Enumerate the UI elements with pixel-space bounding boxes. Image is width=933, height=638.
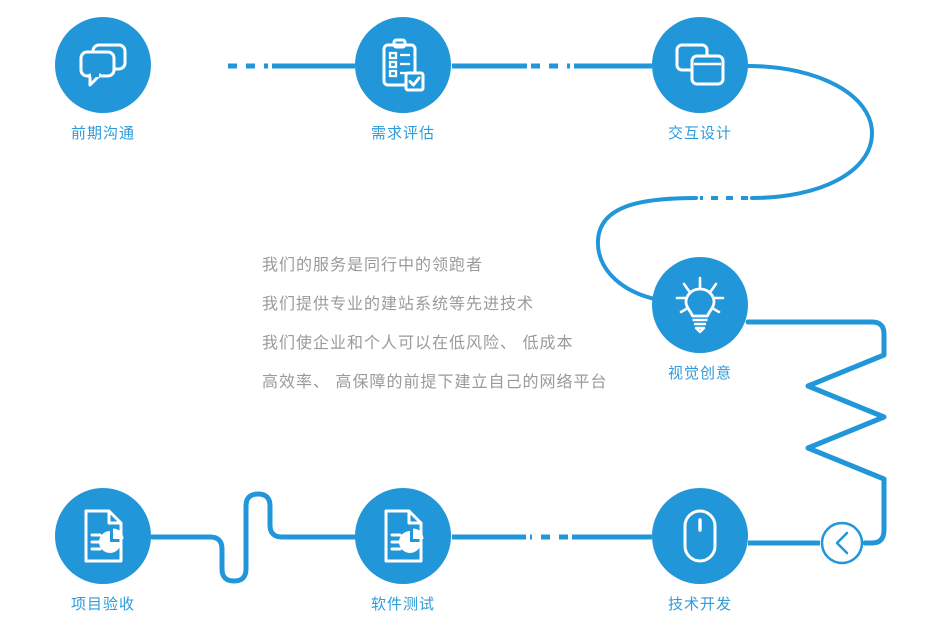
- caption-line: 我们提供专业的建站系统等先进技术: [262, 285, 632, 324]
- node-label: 视觉创意: [652, 366, 748, 381]
- node-visual-creative[interactable]: 视觉创意: [652, 257, 748, 381]
- node-project-acceptance[interactable]: 项目验收: [55, 488, 151, 612]
- node-label: 技术开发: [652, 597, 748, 612]
- node-circle[interactable]: [652, 488, 748, 584]
- lightbulb-icon: [672, 276, 728, 334]
- node-technical-development[interactable]: 技术开发: [652, 488, 748, 612]
- chevron-left-circle-icon: [822, 523, 862, 563]
- windows-stack-icon: [673, 42, 727, 88]
- caption-block: 我们的服务是同行中的领跑者 我们提供专业的建站系统等先进技术 我们使企业和个人可…: [262, 246, 632, 402]
- caption-line: 高效率、 高保障的前提下建立自己的网络平台: [262, 363, 632, 402]
- connector-testing-to-acceptance: [152, 494, 355, 581]
- node-label: 前期沟通: [55, 126, 151, 141]
- node-circle[interactable]: [355, 17, 451, 113]
- process-flow-diagram: 前期沟通 需求评估: [0, 0, 933, 638]
- node-requirement-assessment[interactable]: 需求评估: [355, 17, 451, 141]
- node-circle[interactable]: [652, 17, 748, 113]
- caption-line: 我们使企业和个人可以在低风险、 低成本: [262, 324, 632, 363]
- chat-bubbles-icon: [76, 41, 130, 89]
- node-circle[interactable]: [55, 488, 151, 584]
- document-pie-chart-icon: [79, 508, 127, 564]
- document-pie-chart-icon: [379, 508, 427, 564]
- node-pre-communication[interactable]: 前期沟通: [55, 17, 151, 141]
- node-circle[interactable]: [55, 17, 151, 113]
- node-label: 交互设计: [652, 126, 748, 141]
- caption-line: 我们的服务是同行中的领跑者: [262, 246, 632, 285]
- node-circle[interactable]: [652, 257, 748, 353]
- node-software-testing[interactable]: 软件测试: [355, 488, 451, 612]
- node-label: 软件测试: [355, 597, 451, 612]
- clipboard-checklist-icon: [380, 38, 426, 92]
- node-interaction-design[interactable]: 交互设计: [652, 17, 748, 141]
- node-label: 需求评估: [355, 126, 451, 141]
- computer-mouse-icon: [681, 508, 719, 564]
- node-circle[interactable]: [355, 488, 451, 584]
- connector-visual-to-technical: [748, 322, 884, 543]
- node-label: 项目验收: [55, 597, 151, 612]
